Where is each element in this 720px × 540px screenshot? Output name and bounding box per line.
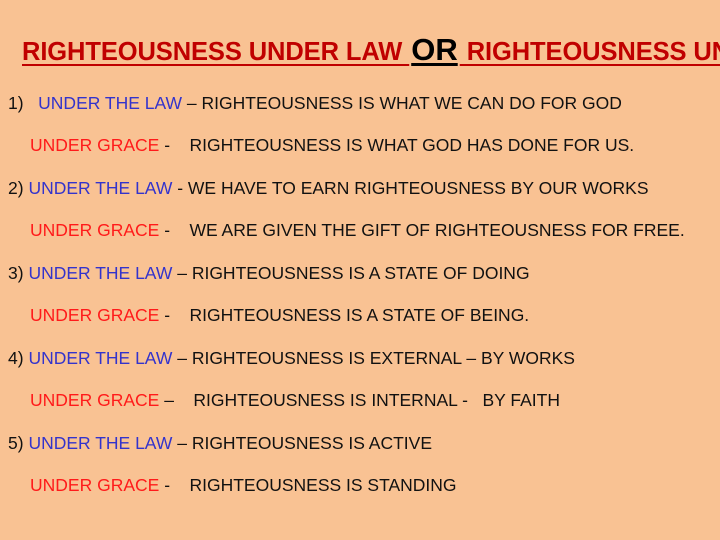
list-item: 5) UNDER THE LAW – RIGHTEOUSNESS IS ACTI… [0, 422, 720, 465]
list-item: UNDER GRACE - RIGHTEOUSNESS IS STANDING [0, 465, 720, 508]
slide-body-list: 1) UNDER THE LAW – RIGHTEOUSNESS IS WHAT… [0, 82, 720, 507]
list-item: 4) UNDER THE LAW – RIGHTEOUSNESS IS EXTE… [0, 337, 720, 380]
list-item-text: RIGHTEOUSNESS IS A STATE OF BEING. [189, 307, 529, 325]
list-item-separator: - [159, 222, 189, 240]
list-item: UNDER GRACE - RIGHTEOUSNESS IS WHAT GOD … [0, 125, 720, 168]
list-item-separator: – [172, 265, 191, 283]
list-item-separator: - [159, 477, 189, 495]
list-item-text: RIGHTEOUSNESS IS WHAT GOD HAS DONE FOR U… [189, 137, 634, 155]
list-item: 1) UNDER THE LAW – RIGHTEOUSNESS IS WHAT… [0, 82, 720, 125]
list-item-separator: – [182, 95, 201, 113]
list-item: UNDER GRACE – RIGHTEOUSNESS IS INTERNAL … [0, 380, 720, 423]
under-grace-label: UNDER GRACE [30, 222, 159, 240]
list-item-separator: – [159, 392, 193, 410]
under-the-law-label: UNDER THE LAW [38, 95, 182, 113]
list-item: UNDER GRACE - WE ARE GIVEN THE GIFT OF R… [0, 210, 720, 253]
title-or-segment: OR [409, 32, 460, 67]
list-item: 3) UNDER THE LAW – RIGHTEOUSNESS IS A ST… [0, 252, 720, 295]
list-item-text: RIGHTEOUSNESS IS STANDING [189, 477, 456, 495]
title-left-segment: RIGHTEOUSNESS UNDER LAW [22, 38, 409, 66]
list-item-number: 4) [8, 350, 28, 368]
list-item-separator: – [172, 435, 191, 453]
list-item-text: RIGHTEOUSNESS IS ACTIVE [192, 435, 432, 453]
under-the-law-label: UNDER THE LAW [28, 180, 172, 198]
under-grace-label: UNDER GRACE [30, 477, 159, 495]
list-item-number: 5) [8, 435, 28, 453]
list-item-number: 2) [8, 180, 28, 198]
list-item-text: RIGHTEOUSNESS IS A STATE OF DOING [192, 265, 530, 283]
list-item-separator: - [159, 307, 189, 325]
list-item-text: RIGHTEOUSNESS IS INTERNAL - BY FAITH [193, 392, 560, 410]
list-item-separator: - [159, 137, 189, 155]
slide-title: RIGHTEOUSNESS UNDER LAW OR RIGHTEOUSNESS… [22, 34, 720, 67]
under-grace-label: UNDER GRACE [30, 392, 159, 410]
list-item-text: WE HAVE TO EARN RIGHTEOUSNESS BY OUR WOR… [188, 180, 649, 198]
list-item: 2) UNDER THE LAW - WE HAVE TO EARN RIGHT… [0, 167, 720, 210]
list-item-text: WE ARE GIVEN THE GIFT OF RIGHTEOUSNESS F… [189, 222, 684, 240]
list-item-number: 1) [8, 95, 38, 113]
title-right-segment: RIGHTEOUSNESS UNDER GRACE [460, 38, 720, 66]
under-grace-label: UNDER GRACE [30, 137, 159, 155]
list-item-text: RIGHTEOUSNESS IS EXTERNAL – BY WORKS [192, 350, 575, 368]
under-the-law-label: UNDER THE LAW [28, 265, 172, 283]
presentation-slide: RIGHTEOUSNESS UNDER LAW OR RIGHTEOUSNESS… [0, 0, 720, 540]
under-the-law-label: UNDER THE LAW [28, 435, 172, 453]
list-item-number: 3) [8, 265, 28, 283]
under-grace-label: UNDER GRACE [30, 307, 159, 325]
list-item-text: RIGHTEOUSNESS IS WHAT WE CAN DO FOR GOD [202, 95, 622, 113]
list-item-separator: – [172, 350, 191, 368]
list-item-separator: - [172, 180, 188, 198]
under-the-law-label: UNDER THE LAW [28, 350, 172, 368]
list-item: UNDER GRACE - RIGHTEOUSNESS IS A STATE O… [0, 295, 720, 338]
